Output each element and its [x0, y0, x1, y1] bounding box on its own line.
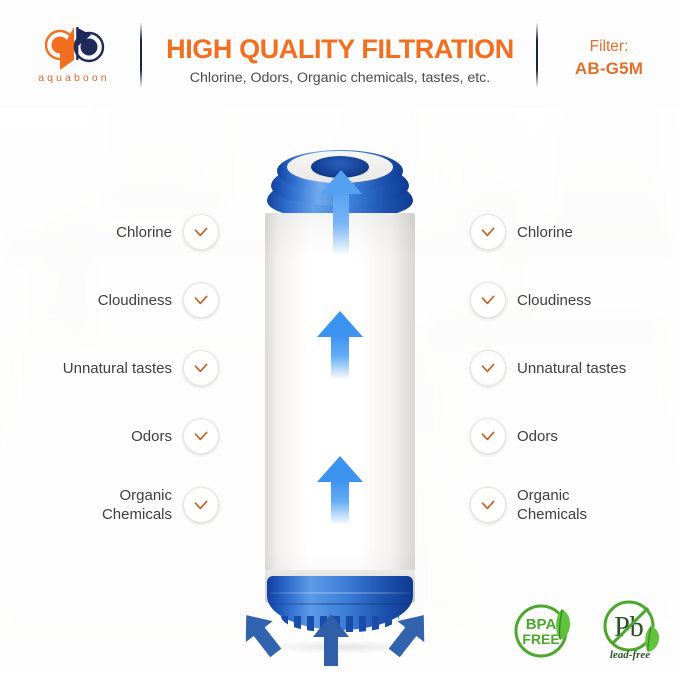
feature-label: Odors	[517, 427, 558, 446]
filter-label: Filter:	[546, 36, 672, 57]
svg-text:FREE: FREE	[522, 631, 559, 647]
feature-left-chlorine[interactable]: Chlorine	[0, 214, 219, 250]
lead-free-badge: Pb lead-free	[596, 598, 674, 669]
feature-label: Odors	[131, 427, 172, 446]
feature-left-cloudiness[interactable]: Cloudiness	[0, 282, 219, 318]
feature-label: Organic Chemicals	[102, 486, 172, 524]
check-icon	[470, 214, 506, 250]
feature-right-odors[interactable]: Odors	[470, 418, 679, 454]
check-icon	[183, 282, 219, 318]
inlet-arrow-up-left-icon	[240, 608, 282, 665]
header-bar: aquaboon HIGH QUALITY FILTRATION Chlorin…	[0, 0, 679, 108]
cartridge-body-shading	[265, 213, 415, 603]
bpa-free-badge: BPA FREE	[510, 600, 582, 667]
aquaboon-droplet-logo-icon	[44, 26, 110, 70]
page-title: HIGH QUALITY FILTRATION	[160, 34, 520, 65]
check-icon	[183, 418, 219, 454]
feature-label: Cloudiness	[517, 291, 591, 310]
check-icon	[183, 350, 219, 386]
check-icon	[470, 487, 506, 523]
feature-right-cloudiness[interactable]: Cloudiness	[470, 282, 679, 318]
bottom-cap-groove	[271, 603, 409, 605]
page-subtitle: Chlorine, Odors, Organic chemicals, tast…	[150, 70, 530, 86]
filter-model-block: Filter: AB-G5M	[546, 36, 672, 80]
filter-model-value: AB-G5M	[546, 57, 672, 80]
certification-badges: BPA FREE Pb lead-free	[510, 598, 670, 668]
inlet-arrow-up-right-icon	[388, 608, 430, 665]
feature-left-odors[interactable]: Odors	[0, 418, 219, 454]
feature-left-unnatural-tastes[interactable]: Unnatural tastes	[0, 350, 219, 386]
feature-label: Cloudiness	[98, 291, 172, 310]
check-icon	[183, 214, 219, 250]
feature-left-organic-chemicals[interactable]: Organic Chemicals	[0, 486, 219, 524]
bottom-cap-highlight	[269, 592, 411, 594]
brand-name: aquaboon	[18, 72, 130, 84]
feature-label: Unnatural tastes	[63, 359, 172, 378]
feature-right-unnatural-tastes[interactable]: Unnatural tastes	[470, 350, 679, 386]
feature-right-organic-chemicals[interactable]: Organic Chemicals	[470, 486, 679, 524]
feature-label: Unnatural tastes	[517, 359, 626, 378]
water-filter-cartridge	[255, 118, 430, 663]
header-divider-left	[140, 22, 142, 88]
feature-label: Organic Chemicals	[517, 486, 587, 524]
inlet-arrow-up-icon	[309, 612, 353, 673]
brand-logo[interactable]: aquaboon	[18, 26, 130, 92]
feature-right-chlorine[interactable]: Chlorine	[470, 214, 679, 250]
header-divider-right	[536, 22, 538, 88]
check-icon	[470, 418, 506, 454]
check-icon	[470, 350, 506, 386]
feature-label: Chlorine	[517, 223, 573, 242]
check-icon	[183, 487, 219, 523]
feature-label: Chlorine	[116, 223, 172, 242]
svg-text:lead-free: lead-free	[610, 649, 650, 661]
infographic-canvas: aquaboon HIGH QUALITY FILTRATION Chlorin…	[0, 0, 679, 673]
check-icon	[470, 282, 506, 318]
